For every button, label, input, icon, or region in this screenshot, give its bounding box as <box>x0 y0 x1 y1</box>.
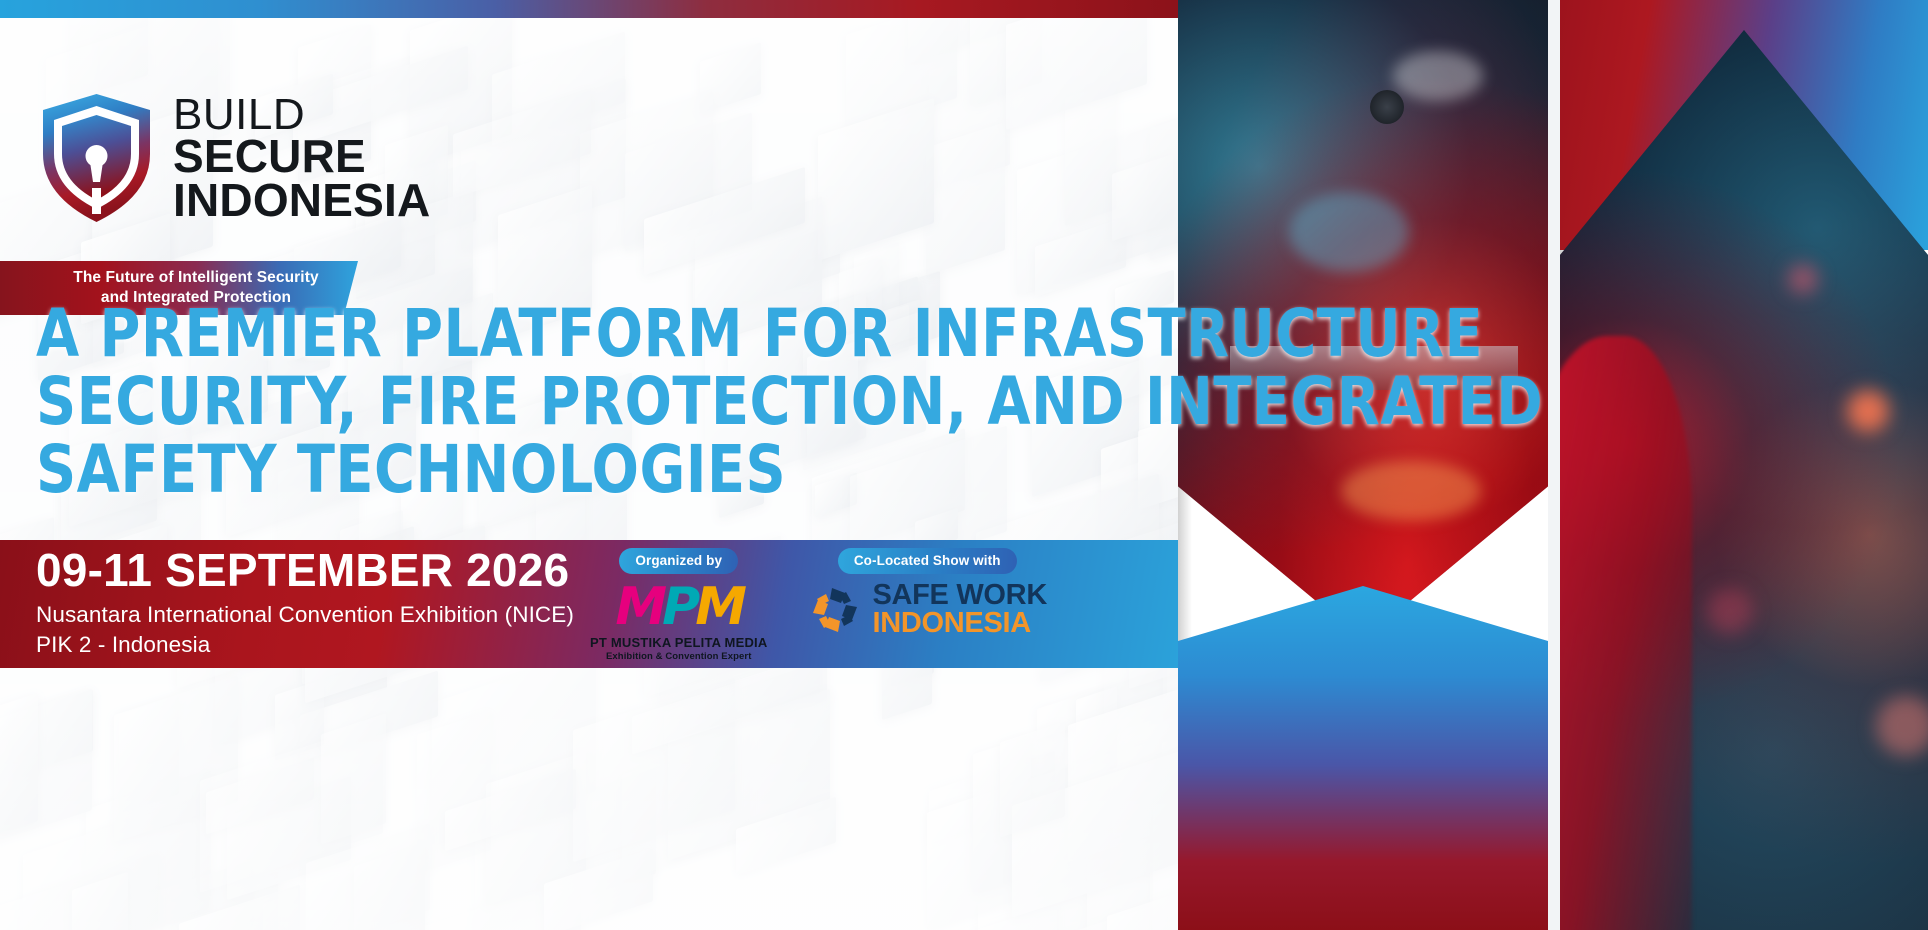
organizer-descriptor: Exhibition & Convention Expert <box>606 651 752 662</box>
safe-work-indonesia-logo: SAFE WORK INDONESIA <box>807 582 1047 638</box>
media-column-right <box>1560 0 1928 930</box>
mpm-mark-m2: M <box>695 577 742 637</box>
logo-line-3: INDONESIA <box>173 179 430 222</box>
event-date: 09-11 SEPTEMBER 2026 <box>36 547 574 594</box>
logo-line-2: SECURE <box>173 135 430 178</box>
tagline-line-1: The Future of Intelligent Security <box>73 268 318 288</box>
top-accent-strip <box>0 0 1178 18</box>
safe-work-line-2: INDONESIA <box>872 610 1047 638</box>
shield-keyhole-icon <box>40 92 153 224</box>
blue-to-red-chevron-panel <box>1178 586 1548 930</box>
headline: A PREMIER PLATFORM FOR INFRASTRUCTURE SE… <box>36 300 901 504</box>
event-logo: BUILD SECURE INDONESIA <box>40 92 430 224</box>
co-located-pill: Co-Located Show with <box>838 548 1017 574</box>
organizer-name: PT MUSTIKA PELITA MEDIA <box>590 635 767 650</box>
organized-by-pill: Organized by <box>619 548 738 574</box>
mpm-mark-m1: M <box>615 577 662 637</box>
organizer-block: Organized by MPM PT MUSTIKA PELITA MEDIA… <box>590 548 767 662</box>
safe-work-line-1: SAFE WORK <box>872 582 1047 610</box>
headline-line-3: SAFETY TECHNOLOGIES <box>36 436 901 504</box>
colocated-block: Co-Located Show with <box>807 548 1047 638</box>
mpm-mark-p: P <box>662 577 695 637</box>
logo-line-1: BUILD <box>173 94 430 135</box>
pinwheel-arrows-icon <box>807 585 863 635</box>
promo-banner: BUILD SECURE INDONESIA The Future of Int… <box>0 0 1928 930</box>
headline-line-2: SECURITY, FIRE PROTECTION, AND INTEGRATE… <box>36 368 901 436</box>
partner-logos: Organized by MPM PT MUSTIKA PELITA MEDIA… <box>590 548 1047 662</box>
venue-line-2: PIK 2 - Indonesia <box>36 630 574 660</box>
headline-line-1: A PREMIER PLATFORM FOR INFRASTRUCTURE <box>36 300 901 368</box>
venue-line-1: Nusantara International Convention Exhib… <box>36 600 574 630</box>
mpm-logo: MPM <box>615 581 742 633</box>
media-column-left <box>1178 0 1548 930</box>
